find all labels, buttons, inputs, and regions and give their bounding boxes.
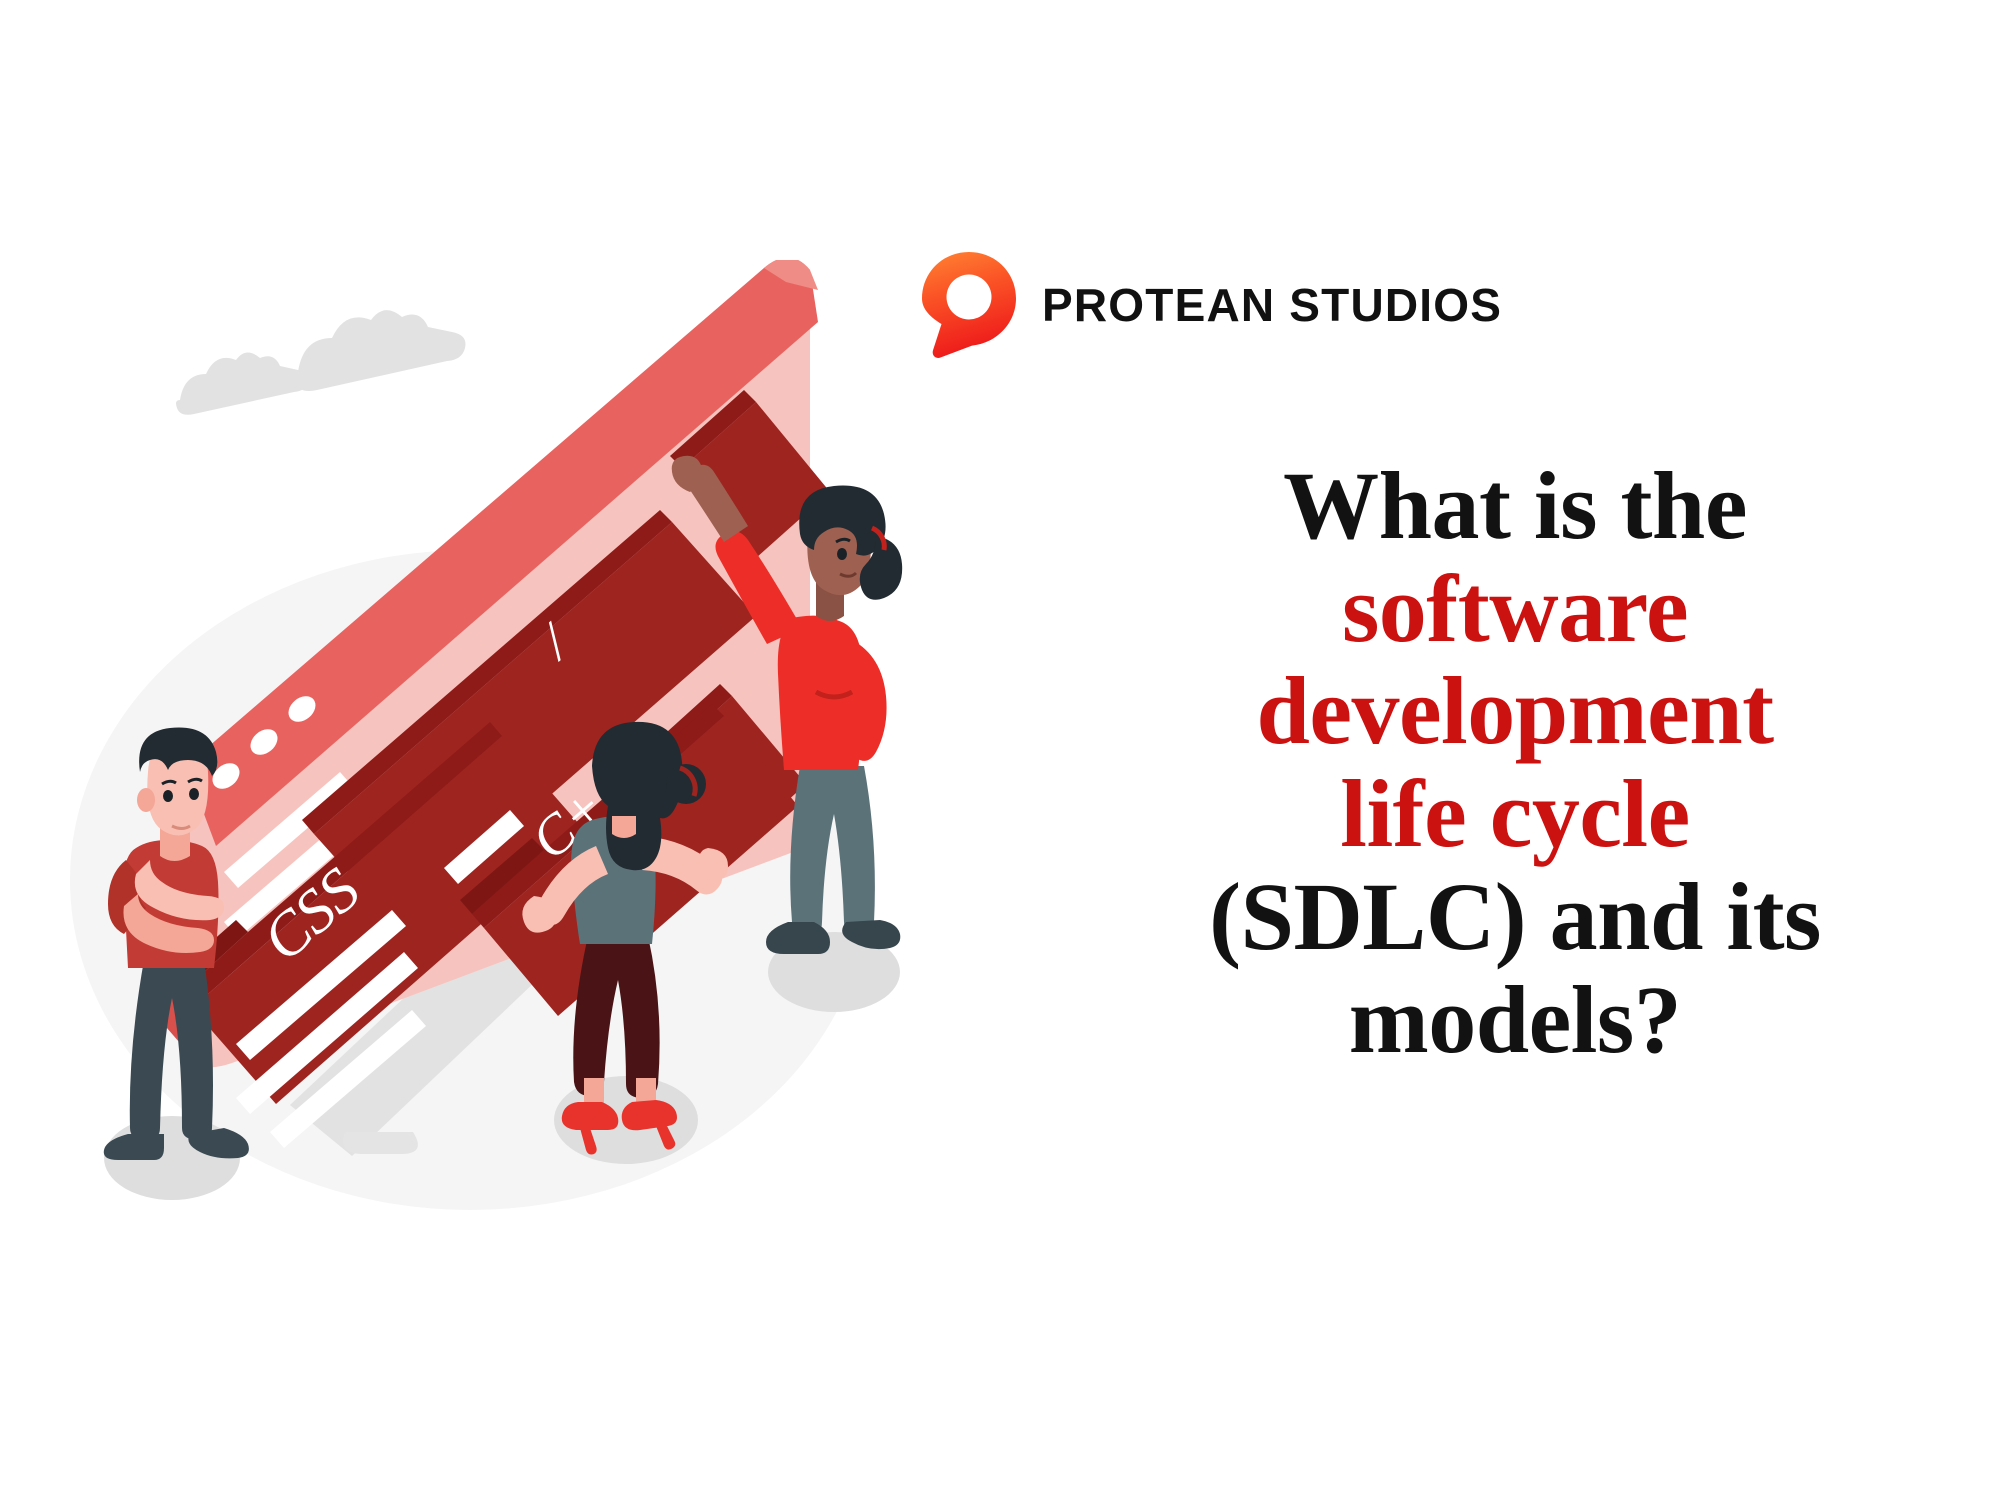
developer-left-ear	[137, 788, 155, 812]
isometric-coding-scene: / CSS	[40, 260, 940, 1220]
headline-line-2: software	[1185, 558, 1845, 661]
developer-right-eye	[837, 548, 847, 560]
headline-line-3: development	[1185, 660, 1845, 763]
headline-line-5: (SDLC) and its	[1185, 866, 1845, 969]
brand-logo[interactable]: PROTEAN STUDIOS	[920, 250, 1502, 360]
headline-line-1: What is the	[1185, 455, 1845, 558]
cloud-icon-left	[176, 352, 308, 414]
brand-wordmark: PROTEAN STUDIOS	[1042, 282, 1502, 328]
developer-left-eye-right	[189, 788, 199, 800]
headline-line-4: life cycle	[1185, 763, 1845, 866]
developer-center-neck	[612, 816, 636, 838]
poster-canvas: PROTEAN STUDIOS What is the software dev…	[0, 0, 2000, 1500]
developer-left-eye-left	[163, 790, 173, 802]
page-title: What is the software development life cy…	[1185, 455, 1845, 1071]
cloud-icon-right	[294, 310, 466, 391]
hero-illustration: / CSS	[40, 260, 940, 1220]
floor-shadow-foot	[343, 1132, 418, 1154]
headline-line-6: models?	[1185, 969, 1845, 1072]
